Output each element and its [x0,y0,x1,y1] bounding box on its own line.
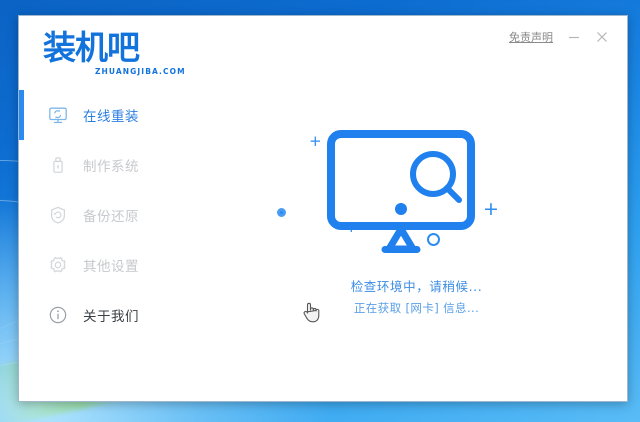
close-icon [595,30,609,44]
close-button[interactable] [589,26,615,48]
minimize-button[interactable] [561,26,587,48]
sidebar-item-backup-restore[interactable]: 备份还原 [19,190,204,240]
sidebar-item-online-reinstall[interactable]: 在线重装 [19,90,204,140]
monitor-reinstall-icon [47,104,69,126]
gear-icon [47,254,69,276]
logo-text-en: ZHUANGJIBA.COM [95,67,186,76]
sidebar-item-other-settings[interactable]: 其他设置 [19,240,204,290]
sidebar-item-label: 其他设置 [83,255,139,275]
app-logo: 装机吧 ZHUANGJIBA.COM [43,30,203,84]
status-sub-text: 正在获取 [网卡] 信息... [204,300,628,316]
info-circle-icon [47,304,69,326]
disclaimer-link[interactable]: 免责声明 [503,27,559,47]
sidebar-item-about-us[interactable]: 关于我们 [19,290,204,340]
sidebar-item-label: 备份还原 [83,205,139,225]
window-controls: 免责声明 [503,26,615,48]
monitor-magnifier-icon [327,130,487,258]
main-content: + + + 检查环境中，请稍候... 正在获取 [网卡] 信息... [204,90,628,402]
sidebar-navigation: 在线重装 制作系统 备份还原 [19,90,204,402]
logo-text-cn: 装机吧 [43,30,203,66]
sidebar-item-label: 制作系统 [83,155,139,175]
status-main-text: 检查环境中，请稍候... [204,276,628,295]
decorative-plus-icon: + [309,134,322,149]
monitor-magnifier-illustration: + + + [264,128,564,273]
sidebar-item-label: 关于我们 [83,305,139,325]
sidebar-item-create-system[interactable]: 制作系统 [19,140,204,190]
usb-drive-icon [47,154,69,176]
minimize-icon [567,30,581,44]
shield-restore-icon [47,204,69,226]
status-message-area: 检查环境中，请稍候... 正在获取 [网卡] 信息... [204,276,628,316]
application-window: 装机吧 ZHUANGJIBA.COM 免责声明 [18,15,628,402]
decorative-ring-icon [277,208,286,217]
sidebar-item-label: 在线重装 [83,105,139,125]
title-bar[interactable]: 装机吧 ZHUANGJIBA.COM 免责声明 [19,16,627,90]
